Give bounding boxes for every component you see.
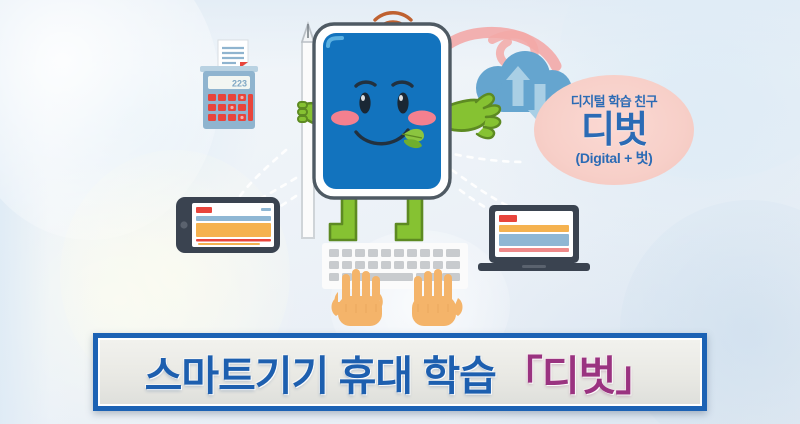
caption-banner-inner: 스마트기기 휴대 학습 「디벗」 [98, 338, 702, 406]
badge-subtitle: (Digital + 벗) [575, 151, 652, 165]
dibeot-tablet-mascot [262, 8, 502, 258]
badge-title: 디벗 [581, 111, 647, 148]
badge-tagline: 디지털 학습 친구 [571, 95, 657, 108]
calculator-display-value: 223 [232, 79, 247, 89]
dibeot-badge: 디지털 학습 친구 디벗 (Digital + 벗) [534, 75, 694, 185]
caption-banner: 스마트기기 휴대 학습 「디벗」 [93, 333, 707, 411]
right-hand [412, 269, 463, 326]
caption-main-text: 스마트기기 휴대 학습 [145, 342, 496, 402]
calculator-icon: 223 [192, 38, 264, 134]
illustration-canvas: 디지털 학습 친구 디벗 (Digital + 벗) 223 [0, 0, 800, 424]
left-hand [332, 269, 383, 326]
stylus-pen [302, 24, 314, 238]
mascot-body [314, 24, 450, 198]
typing-hands-icon [330, 268, 464, 330]
caption-accent-text: 「디벗」 [502, 342, 655, 402]
